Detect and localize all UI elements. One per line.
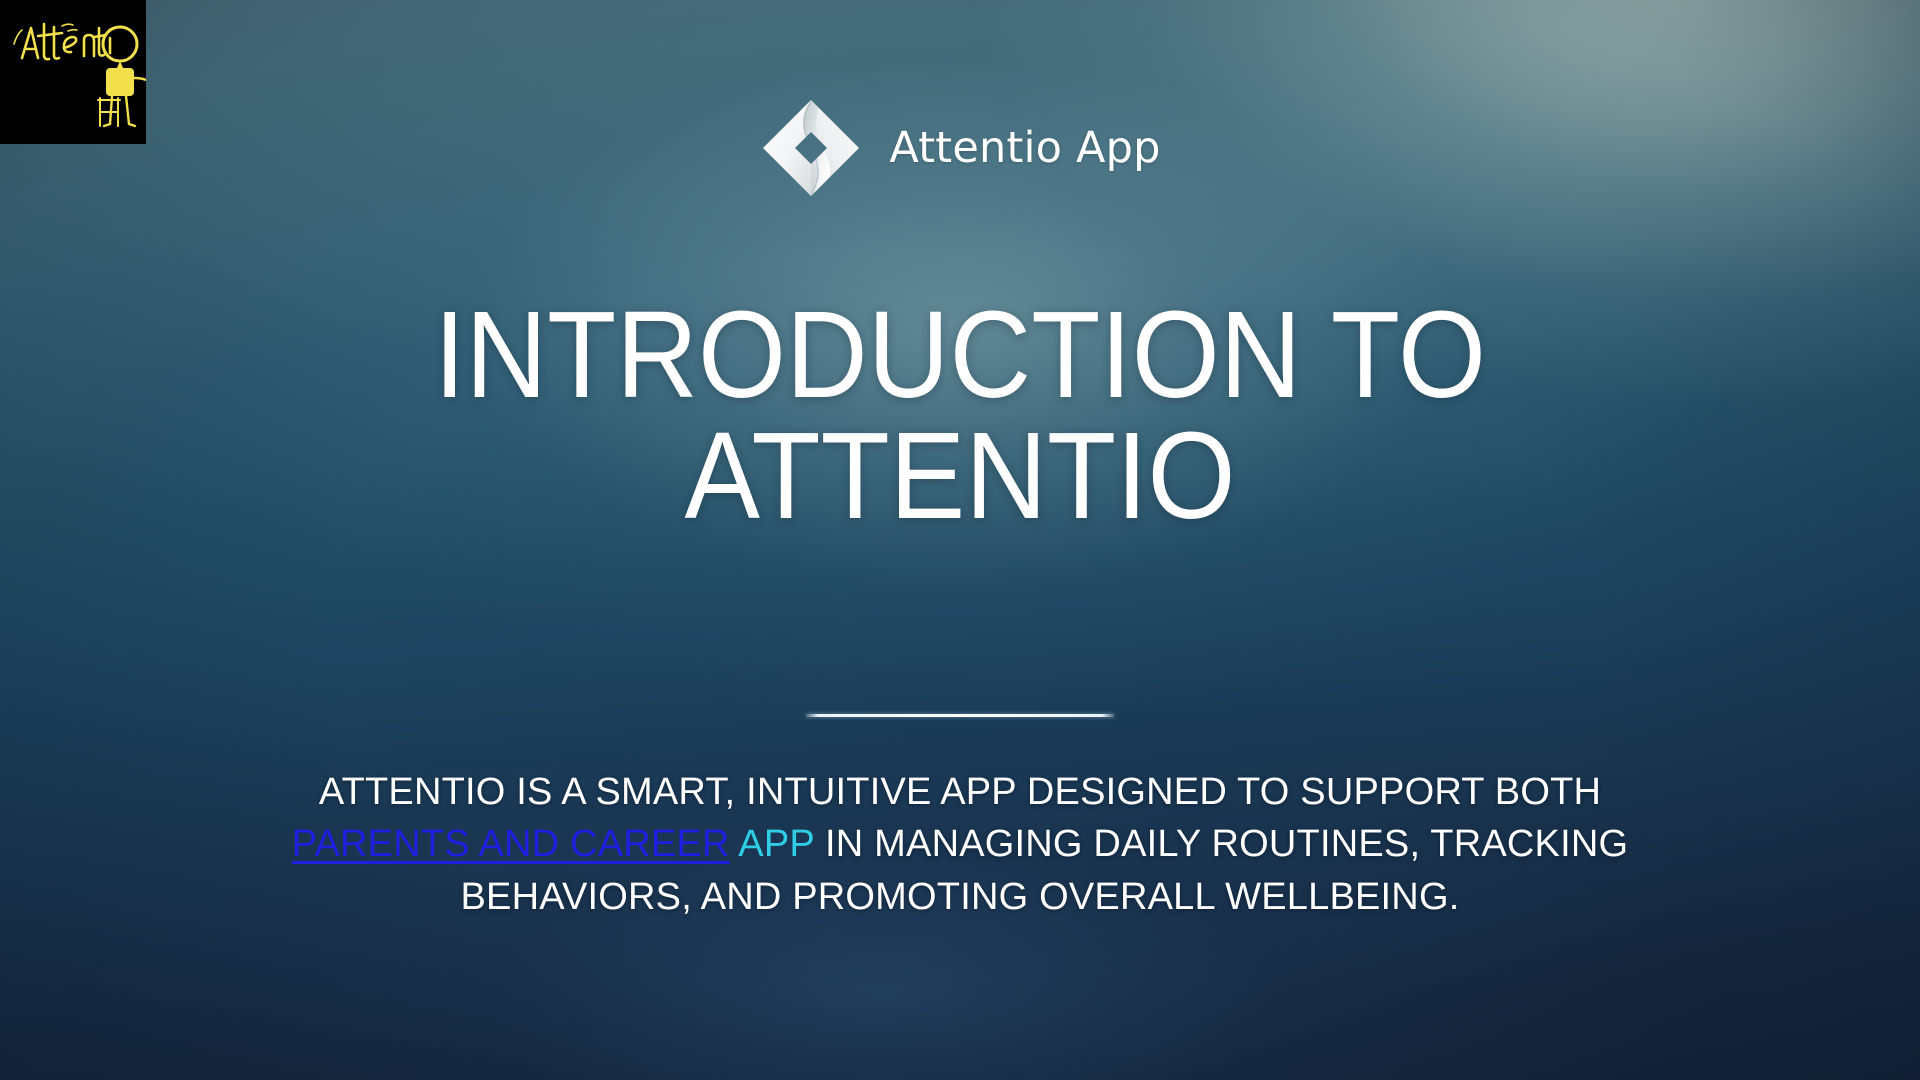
subtitle-segment-1: ATTENTIO IS A SMART, INTUITIVE APP DESIG…	[319, 771, 1601, 813]
presentation-slide: Attentio App INTRODUCTION TO ATTENTIO AT…	[0, 0, 1920, 1080]
page-title: INTRODUCTION TO ATTENTIO	[180, 296, 1740, 537]
page-title-line-2: ATTENTIO	[242, 417, 1677, 538]
subtitle-paragraph: ATTENTIO IS A SMART, INTUITIVE APP DESIG…	[230, 766, 1690, 923]
subtitle-accent-app: APP	[738, 823, 814, 865]
subtitle-space	[730, 823, 739, 865]
parents-and-career-link[interactable]: PARENTS AND CAREER	[292, 823, 730, 865]
brand-name-label: Attentio App	[889, 127, 1160, 170]
page-title-line-1: INTRODUCTION TO	[242, 296, 1677, 417]
brand-header: Attentio App	[0, 96, 1920, 200]
diamond-ribbon-icon	[759, 96, 863, 200]
title-divider	[806, 714, 1114, 717]
